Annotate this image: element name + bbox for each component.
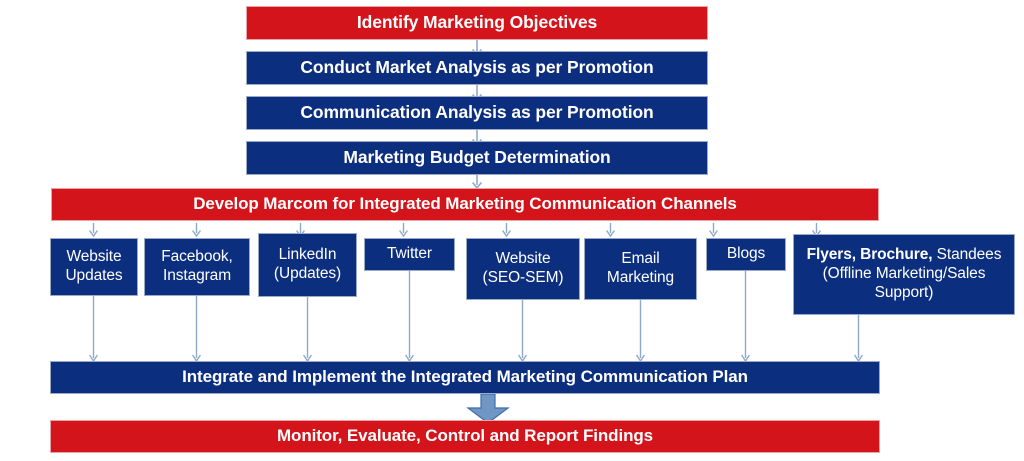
- stage-label: Conduct Market Analysis as per Promotion: [247, 57, 707, 78]
- integrate-feed-arrow-7: [739, 271, 752, 362]
- channel-label-line1: Website: [66, 248, 121, 265]
- marcom-bar-label: Develop Marcom for Integrated Marketing …: [52, 194, 878, 215]
- integrate-bar-label: Integrate and Implement the Integrated M…: [51, 367, 879, 388]
- integrate-feed-arrow-1: [87, 296, 100, 362]
- stage-label: Marketing Budget Determination: [247, 147, 707, 168]
- channel-feed-arrow-2: [190, 223, 203, 237]
- arrow-down-icon: [852, 315, 865, 362]
- channel-box-twitter[interactable]: Twitter: [364, 238, 455, 271]
- flowchart-canvas: Identify Marketing Objectives Conduct Ma…: [0, 0, 1024, 461]
- integrate-feed-arrow-4: [403, 271, 416, 362]
- integrate-feed-arrow-6: [634, 300, 647, 362]
- integrate-bar[interactable]: Integrate and Implement the Integrated M…: [50, 361, 880, 394]
- channel-label-line1: Email: [621, 250, 659, 267]
- channel-label-line1: LinkedIn: [279, 246, 337, 263]
- channel-box-email-marketing[interactable]: Email Marketing: [584, 238, 697, 300]
- channel-label: Blogs: [707, 245, 785, 264]
- stage-box-conduct-market-analysis[interactable]: Conduct Market Analysis as per Promotion: [246, 51, 708, 85]
- integrate-feed-arrow-2: [190, 296, 203, 362]
- arrow-down-icon: [87, 296, 100, 362]
- channel-box-website-seo-sem[interactable]: Website (SEO-SEM): [466, 238, 580, 300]
- channel-label-line2: (Updates): [274, 265, 341, 282]
- channel-label: LinkedIn (Updates): [259, 246, 356, 284]
- channel-box-facebook-instagram[interactable]: Facebook, Instagram: [144, 238, 250, 296]
- channel-label: Twitter: [365, 245, 454, 264]
- monitor-bar[interactable]: Monitor, Evaluate, Control and Report Fi…: [50, 420, 880, 453]
- marcom-bar[interactable]: Develop Marcom for Integrated Marketing …: [51, 188, 879, 221]
- arrow-down-icon: [301, 297, 314, 362]
- channel-label-regular: Standees: [932, 246, 1001, 263]
- arrow-down-icon: [634, 300, 647, 362]
- arrow-down-icon: [707, 223, 720, 237]
- channel-label-bold: Flyers, Brochure,: [807, 246, 933, 263]
- stage-box-marketing-budget-determination[interactable]: Marketing Budget Determination: [246, 141, 708, 175]
- arrow-down-icon: [397, 223, 410, 237]
- channel-feed-arrow-6: [604, 223, 617, 237]
- arrow-down-icon: [604, 223, 617, 237]
- channel-label: Facebook, Instagram: [145, 248, 249, 286]
- arrow-down-icon: [190, 223, 203, 237]
- arrow-down-icon: [516, 300, 529, 362]
- channel-feed-arrow-1: [87, 223, 100, 237]
- connector-arrow-4: [470, 175, 484, 189]
- arrow-down-icon: [87, 223, 100, 237]
- channel-label: Website Updates: [51, 248, 137, 286]
- stage-box-communication-analysis[interactable]: Communication Analysis as per Promotion: [246, 96, 708, 130]
- arrow-down-icon: [470, 175, 484, 189]
- channel-label-line2: Instagram: [163, 267, 231, 284]
- stage-label: Communication Analysis as per Promotion: [247, 102, 707, 123]
- integrate-feed-arrow-3: [301, 297, 314, 362]
- arrow-down-icon: [739, 271, 752, 362]
- arrow-down-icon: [403, 271, 416, 362]
- channel-box-blogs[interactable]: Blogs: [706, 238, 786, 271]
- arrow-down-icon: [500, 223, 513, 237]
- integrate-feed-arrow-8: [852, 315, 865, 362]
- channel-label-line1: Facebook,: [161, 248, 232, 265]
- integrate-feed-arrow-5: [516, 300, 529, 362]
- channel-feed-arrow-7: [707, 223, 720, 237]
- channel-box-website-updates[interactable]: Website Updates: [50, 238, 138, 296]
- channel-label-line2: Marketing: [607, 269, 674, 286]
- channel-label-line2: Updates: [65, 267, 122, 284]
- channel-label-line3: Support): [875, 284, 934, 301]
- arrow-down-icon: [190, 296, 203, 362]
- channel-feed-arrow-5: [500, 223, 513, 237]
- channel-label-line2: (Offline Marketing/Sales: [823, 265, 986, 282]
- channel-box-flyers-brochure-standees[interactable]: Flyers, Brochure, Standees (Offline Mark…: [793, 234, 1015, 315]
- channel-label: Email Marketing: [585, 250, 696, 288]
- stage-label: Identify Marketing Objectives: [247, 12, 707, 33]
- monitor-bar-label: Monitor, Evaluate, Control and Report Fi…: [51, 426, 879, 447]
- channel-label: Website (SEO-SEM): [467, 250, 579, 288]
- channel-box-linkedin-updates[interactable]: LinkedIn (Updates): [258, 233, 357, 297]
- channel-label: Flyers, Brochure, Standees (Offline Mark…: [794, 246, 1014, 303]
- channel-label-line1: Website: [495, 250, 550, 267]
- channel-feed-arrow-4: [397, 223, 410, 237]
- channel-label-line2: (SEO-SEM): [483, 269, 564, 286]
- stage-box-identify-marketing-objectives[interactable]: Identify Marketing Objectives: [246, 6, 708, 40]
